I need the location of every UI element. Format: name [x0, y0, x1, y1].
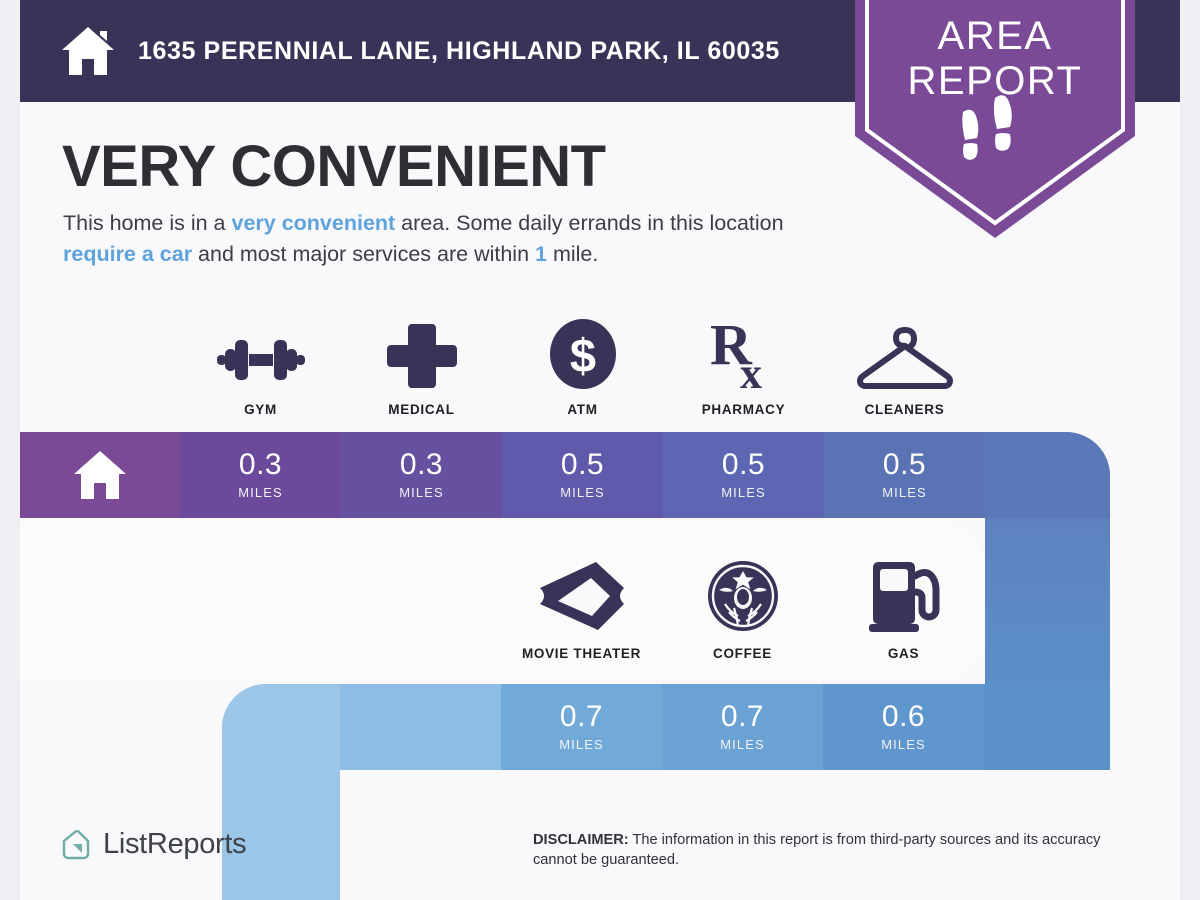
- distance-cell-medical: 0.3 MILES: [341, 432, 502, 518]
- left-page-margin: [0, 0, 20, 900]
- dollar-coin-icon: $: [547, 318, 619, 390]
- home-icon: [60, 25, 116, 77]
- paragraph-part1: This home is in a: [63, 211, 231, 235]
- ribbon-tail-top: [985, 432, 1110, 518]
- area-report-infographic: 1635 PERENNIAL LANE, HIGHLAND PARK, IL 6…: [0, 0, 1200, 900]
- distance-value: 0.5: [722, 450, 765, 480]
- svg-text:x: x: [740, 349, 762, 390]
- distance-unit: MILES: [560, 485, 605, 500]
- badge-line2: REPORT: [908, 59, 1083, 103]
- distance-cell-gas: 0.6 MILES: [823, 684, 984, 770]
- amenity-label: CLEANERS: [865, 402, 945, 417]
- amenity-pharmacy: R x PHARMACY: [663, 318, 824, 417]
- area-report-badge: AREA REPORT: [855, 0, 1135, 244]
- ribbon-spacer-bottom: [340, 684, 501, 770]
- distance-value: 0.5: [561, 450, 604, 480]
- amenity-label: GAS: [888, 646, 919, 661]
- ticket-icon: [536, 558, 628, 634]
- logo-text: ListReports: [103, 828, 246, 861]
- listreports-logo: ListReports: [60, 828, 246, 861]
- distance-value: 0.5: [883, 450, 926, 480]
- distance-unit: MILES: [399, 485, 444, 500]
- amenity-label: MEDICAL: [388, 402, 454, 417]
- amenity-medical: MEDICAL: [341, 318, 502, 417]
- amenity-label: MOVIE THEATER: [522, 646, 641, 661]
- distance-unit: MILES: [721, 485, 766, 500]
- hanger-icon: [857, 324, 953, 390]
- paragraph-highlight-car: require a car: [63, 242, 192, 266]
- distance-unit: MILES: [559, 737, 604, 752]
- dumbbell-icon: [213, 330, 309, 390]
- summary-paragraph: This home is in a very convenient area. …: [63, 208, 853, 269]
- medical-cross-icon: [387, 322, 457, 390]
- distance-value: 0.3: [400, 450, 443, 480]
- gas-pump-icon: [867, 558, 941, 634]
- right-page-margin: [1180, 0, 1200, 900]
- paragraph-part3: and most major services are within: [192, 242, 535, 266]
- distance-value: 0.3: [239, 450, 282, 480]
- distance-cell-pharmacy: 0.5 MILES: [663, 432, 824, 518]
- distance-value: 0.7: [560, 702, 603, 732]
- paragraph-highlight-miles: 1: [535, 242, 547, 266]
- paragraph-highlight-convenient: very convenient: [231, 211, 395, 235]
- distance-cell-coffee: 0.7 MILES: [662, 684, 823, 770]
- paragraph-part4: mile.: [547, 242, 598, 266]
- distance-value: 0.7: [721, 702, 764, 732]
- distance-cell-movie-theater: 0.7 MILES: [501, 684, 662, 770]
- origin-home-cell: [20, 432, 180, 518]
- amenity-coffee: COFFEE: [662, 562, 823, 661]
- badge-line1: AREA: [938, 14, 1053, 58]
- home-icon: [72, 449, 128, 501]
- distance-cell-gym: 0.3 MILES: [180, 432, 341, 518]
- amenity-label: COFFEE: [713, 646, 772, 661]
- distance-unit: MILES: [238, 485, 283, 500]
- distance-cell-atm: 0.5 MILES: [502, 432, 663, 518]
- amenity-gas: GAS: [823, 562, 984, 661]
- amenity-gym: GYM: [180, 318, 341, 417]
- amenity-label: GYM: [244, 402, 277, 417]
- amenity-atm: $ ATM: [502, 318, 663, 417]
- property-address: 1635 PERENNIAL LANE, HIGHLAND PARK, IL 6…: [138, 37, 780, 66]
- amenity-icon-row-top: GYM MEDICAL $ ATM R x PHARMACY: [180, 318, 985, 417]
- distance-cell-cleaners: 0.5 MILES: [824, 432, 985, 518]
- rx-icon: R x: [708, 318, 780, 390]
- amenity-cleaners: CLEANERS: [824, 318, 985, 417]
- amenity-icon-row-bottom: MOVIE THEATER COFFEE: [501, 562, 984, 661]
- amenity-label: ATM: [567, 402, 597, 417]
- ribbon-lead-bottom: [222, 684, 340, 770]
- disclaimer: DISCLAIMER: The information in this repo…: [533, 830, 1143, 870]
- listreports-house-tag-icon: [60, 829, 92, 861]
- amenity-label: PHARMACY: [702, 402, 786, 417]
- disclaimer-label: DISCLAIMER:: [533, 832, 629, 848]
- distance-value: 0.6: [882, 702, 925, 732]
- coffee-siren-icon: [705, 558, 781, 634]
- distance-unit: MILES: [881, 737, 926, 752]
- distance-bar-top: 0.3 MILES 0.3 MILES 0.5 MILES 0.5 MILES …: [20, 432, 1110, 518]
- distance-bar-bottom: 0.7 MILES 0.7 MILES 0.6 MILES: [222, 684, 1110, 770]
- paragraph-part2: area. Some daily errands in this locatio…: [395, 211, 783, 235]
- page-title: VERY CONVENIENT: [62, 138, 606, 196]
- distance-unit: MILES: [720, 737, 765, 752]
- distance-unit: MILES: [882, 485, 927, 500]
- ribbon-tail-bottom: [984, 684, 1110, 770]
- amenity-movie-theater: MOVIE THEATER: [501, 562, 662, 661]
- svg-text:$: $: [569, 329, 595, 382]
